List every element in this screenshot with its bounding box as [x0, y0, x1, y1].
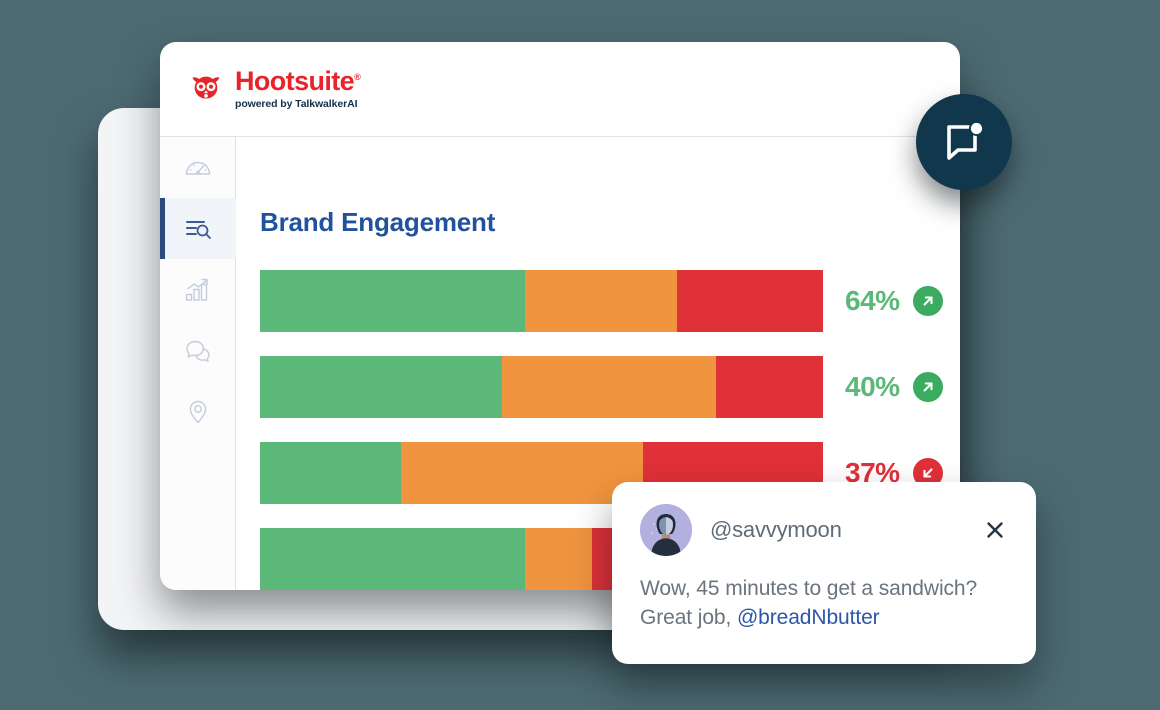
bar-segment-positive	[260, 270, 525, 332]
avatar	[640, 504, 692, 556]
gauge-icon	[183, 153, 213, 183]
tooltip-handle: @savvymoon	[710, 517, 842, 543]
bar-value-label: 40%	[845, 371, 900, 403]
registered-mark: ®	[354, 72, 360, 82]
chat-notification-badge[interactable]	[916, 94, 1012, 190]
search-list-icon	[183, 214, 213, 244]
tooltip-message: Wow, 45 minutes to get a sandwich? Great…	[640, 574, 1008, 632]
bar-segment-neutral	[525, 270, 677, 332]
page-title: Brand Engagement	[260, 207, 495, 238]
mention-tooltip-card: @savvymoon Wow, 45 minutes to get a sand…	[612, 482, 1036, 664]
tooltip-message-line2: Great job,	[640, 606, 737, 629]
brand-name: Hootsuite®	[235, 68, 360, 95]
brand-subtitle: powered by TalkwalkerAI	[235, 99, 360, 110]
trend-up-badge	[913, 372, 943, 402]
stacked-bar-2	[260, 356, 823, 418]
sidebar-item-conversations[interactable]	[160, 320, 236, 381]
app-header: Hootsuite® powered by TalkwalkerAI	[160, 42, 960, 137]
sidebar-item-analytics[interactable]	[160, 259, 236, 320]
map-pin-icon	[183, 397, 213, 427]
tooltip-header: @savvymoon	[640, 504, 1008, 556]
sidebar-item-search-insights[interactable]	[160, 198, 236, 259]
chart-row-1: 64%	[260, 270, 960, 356]
bar-segment-neutral	[401, 442, 643, 504]
close-icon[interactable]	[982, 517, 1008, 543]
tooltip-message-line1: Wow, 45 minutes to get a sandwich?	[640, 577, 977, 600]
stacked-bar-1	[260, 270, 823, 332]
bar-segment-positive	[260, 442, 401, 504]
bar-segment-positive	[260, 356, 502, 418]
chart-row-1-meta: 64%	[845, 270, 943, 332]
sidebar-item-locations[interactable]	[160, 381, 236, 442]
bar-segment-negative	[677, 270, 823, 332]
chart-row-2-meta: 40%	[845, 356, 943, 418]
bar-chart-growth-icon	[183, 275, 213, 305]
chat-bubbles-icon	[183, 336, 213, 366]
hootsuite-owl-icon	[186, 68, 226, 110]
tooltip-mention-link[interactable]: @breadNbutter	[737, 606, 880, 629]
brand-logo: Hootsuite® powered by TalkwalkerAI	[186, 68, 360, 110]
sidebar-item-dashboard[interactable]	[160, 137, 236, 198]
chat-notification-icon	[938, 114, 990, 171]
bar-segment-negative	[716, 356, 823, 418]
chart-row-2: 40%	[260, 356, 960, 442]
bar-segment-neutral	[525, 528, 593, 590]
screenshot-stage: Hootsuite® powered by TalkwalkerAI	[0, 0, 1160, 710]
trend-up-badge	[913, 286, 943, 316]
bar-segment-neutral	[502, 356, 716, 418]
bar-value-label: 64%	[845, 285, 900, 317]
sidebar	[160, 137, 236, 590]
bar-segment-positive	[260, 528, 525, 590]
